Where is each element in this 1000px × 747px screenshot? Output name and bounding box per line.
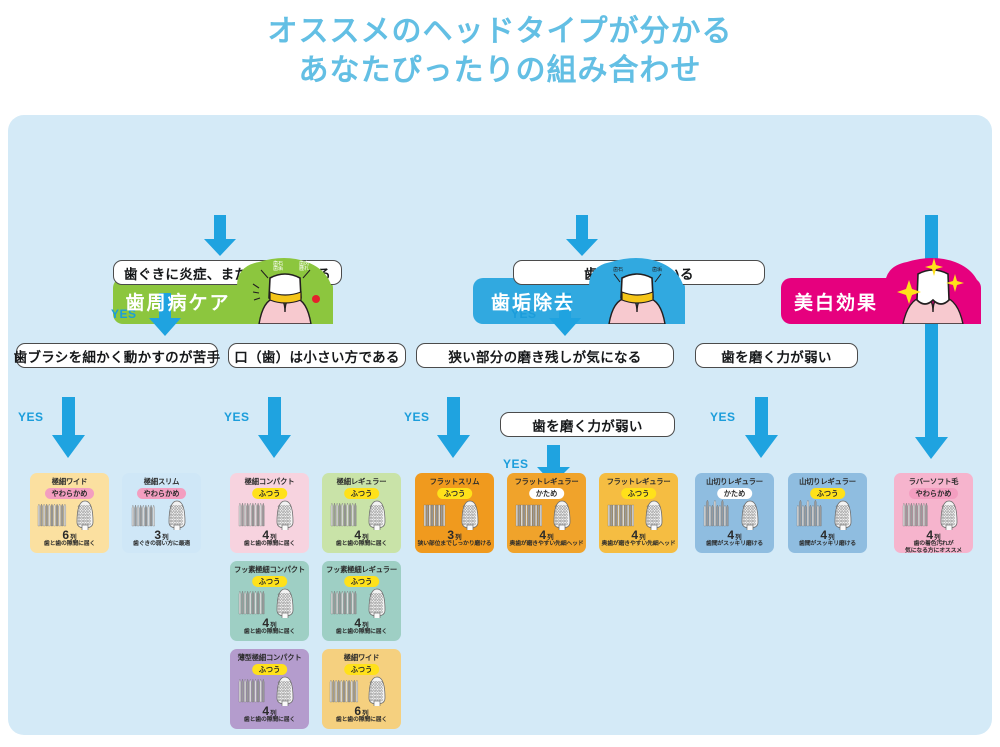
- product-firmness-badge: かため: [529, 488, 565, 499]
- product-card[interactable]: フラットレギュラーふつう 4列奥歯が磨きやすい先細ヘッド: [599, 473, 678, 553]
- product-firmness-badge: かため: [717, 488, 753, 499]
- category-badge-perio[interactable]: 歯周病ケア 歯石歯垢 歯肉腫れ: [113, 278, 333, 324]
- arrow-plaque-badge-to-q1: [565, 215, 599, 257]
- product-row-unit: 列: [455, 534, 462, 541]
- product-name: ラバーソフト毛: [894, 477, 973, 486]
- product-card[interactable]: フッ素極細コンパクトふつう 4列歯と歯の隙間に届く: [230, 561, 309, 641]
- product-description: 歯と歯の隙間に届く: [231, 629, 308, 636]
- product-row-unit: 列: [70, 534, 77, 541]
- category-badge-plaque[interactable]: 歯垢除去 歯石歯垢: [473, 278, 685, 324]
- toothbrush-head-icon: [421, 500, 488, 530]
- arrow-perio-2a-to-cards: [50, 397, 86, 459]
- product-description: 歯の着色汚れが 気になる方にオススメ: [895, 541, 972, 553]
- product-card[interactable]: 極細スリムやわらかめ 3列歯ぐきの弱い方に最適: [122, 473, 201, 553]
- product-card[interactable]: 極細コンパクトふつう 4列歯と歯の隙間に届く: [230, 473, 309, 553]
- product-row-number: 4: [539, 528, 546, 542]
- svg-text:歯垢: 歯垢: [652, 266, 662, 273]
- product-row-unit: 列: [362, 710, 369, 717]
- product-card[interactable]: ラバーソフト毛やわらかめ 4列歯の着色汚れが 気になる方にオススメ: [894, 473, 973, 553]
- product-row-unit: 列: [639, 534, 646, 541]
- category-label-whitening: 美白効果: [781, 278, 891, 324]
- svg-text:歯垢: 歯垢: [273, 265, 283, 272]
- product-card[interactable]: 極細ワイドふつう 6列歯と歯の隙間に届く: [322, 649, 401, 729]
- category-label-perio: 歯周病ケア: [113, 278, 243, 324]
- product-row-unit: 列: [735, 534, 742, 541]
- product-description: 歯と歯の隙間に届く: [323, 629, 400, 636]
- category-label-plaque: 歯垢除去: [473, 278, 593, 324]
- product-description: 歯と歯の隙間に届く: [31, 541, 108, 548]
- product-description: 歯間がスッキリ磨ける: [696, 541, 773, 548]
- product-firmness-badge: ふつう: [344, 488, 380, 499]
- product-row-number: 6: [354, 704, 361, 718]
- product-name: 極細コンパクト: [230, 477, 309, 486]
- toothbrush-head-icon: [605, 500, 672, 530]
- product-row-number: 3: [447, 528, 454, 542]
- product-firmness-badge: やわらかめ: [137, 488, 187, 499]
- question-box-plaque-3[interactable]: 歯を磨く力が弱い: [500, 412, 675, 437]
- question-box-plaque-2b[interactable]: 歯を磨く力が弱い: [695, 343, 858, 368]
- product-row-unit: 列: [828, 534, 835, 541]
- product-description: 奥歯が磨きやすい先細ヘッド: [600, 541, 677, 548]
- page-title: オススメのヘッドタイプが分かる あなたぴったりの組み合わせ: [0, 12, 1000, 90]
- product-description: 歯間がスッキリ磨ける: [789, 541, 866, 548]
- plaque-tooth-icon: 歯石歯垢: [589, 252, 685, 324]
- svg-text:腫れ: 腫れ: [299, 265, 309, 272]
- yes-label-perio-2b: YES: [224, 410, 250, 424]
- yes-label-plaque-3: YES: [503, 457, 529, 471]
- product-firmness-badge: ふつう: [344, 576, 380, 587]
- product-row-number: 3: [154, 528, 161, 542]
- gum-inflammation-tooth-icon: 歯石歯垢 歯肉腫れ: [237, 252, 333, 324]
- product-description: 歯ぐきの弱い方に最適: [123, 541, 200, 548]
- product-card[interactable]: 山切りレギュラーふつう 4列歯間がスッキリ磨ける: [788, 473, 867, 553]
- product-firmness-badge: ふつう: [252, 664, 288, 675]
- product-name: 山切りレギュラー: [695, 477, 774, 486]
- toothbrush-head-icon: [236, 676, 303, 706]
- product-name: フラットレギュラー: [507, 477, 586, 486]
- product-row-unit: 列: [270, 534, 277, 541]
- toothbrush-head-icon: [36, 500, 103, 530]
- product-row-unit: 列: [362, 534, 369, 541]
- product-row-unit: 列: [362, 622, 369, 629]
- toothbrush-head-icon: [513, 500, 580, 530]
- product-row-number: 4: [926, 528, 933, 542]
- question-box-plaque-2a[interactable]: 狭い部分の磨き残しが気になる: [416, 343, 674, 368]
- arrow-plaque-2a-to-cards: [435, 397, 471, 459]
- toothbrush-head-icon: [328, 588, 395, 618]
- product-firmness-badge: ふつう: [252, 576, 288, 587]
- product-firmness-badge: ふつう: [344, 664, 380, 675]
- product-card[interactable]: フラットレギュラーかため 4列奥歯が磨きやすい先細ヘッド: [507, 473, 586, 553]
- product-row-number: 4: [262, 616, 269, 630]
- arrow-plaque-2b-to-cards: [743, 397, 779, 459]
- arrow-perio-2b-to-cards: [256, 397, 292, 459]
- page-title-line1: オススメのヘッドタイプが分かる: [0, 12, 1000, 51]
- product-card[interactable]: フッ素極細レギュラーふつう 4列歯と歯の隙間に届く: [322, 561, 401, 641]
- product-name: フッ素極細レギュラー: [322, 565, 401, 574]
- product-firmness-badge: やわらかめ: [909, 488, 959, 499]
- flowchart-panel: 歯周病ケア 歯石歯垢 歯肉腫れ 歯垢除去: [8, 115, 992, 735]
- product-row-number: 4: [262, 704, 269, 718]
- product-description: 歯と歯の隙間に届く: [231, 717, 308, 724]
- product-card[interactable]: 極細ワイドやわらかめ 6列歯と歯の隙間に届く: [30, 473, 109, 553]
- product-name: 極細レギュラー: [322, 477, 401, 486]
- category-badge-whitening[interactable]: 美白効果: [781, 278, 981, 324]
- toothbrush-head-icon: [701, 500, 768, 530]
- svg-text:歯石: 歯石: [613, 266, 623, 273]
- product-row-unit: 列: [270, 622, 277, 629]
- product-firmness-badge: ふつう: [621, 488, 657, 499]
- yes-label-plaque-2b: YES: [710, 410, 736, 424]
- sparkle-tooth-icon: [885, 252, 981, 324]
- toothbrush-head-icon: [328, 500, 395, 530]
- product-row-unit: 列: [934, 534, 941, 541]
- product-description: 狭い部位までしっかり磨ける: [416, 541, 493, 548]
- product-row-number: 4: [354, 528, 361, 542]
- product-name: 山切りレギュラー: [788, 477, 867, 486]
- yes-label-plaque-2a: YES: [404, 410, 430, 424]
- product-row-number: 6: [62, 528, 69, 542]
- product-row-unit: 列: [162, 534, 169, 541]
- product-row-number: 4: [262, 528, 269, 542]
- product-name: 極細ワイド: [322, 653, 401, 662]
- product-card[interactable]: 山切りレギュラーかため 4列歯間がスッキリ磨ける: [695, 473, 774, 553]
- arrow-perio-badge-to-q1: [203, 215, 237, 257]
- product-firmness-badge: ふつう: [252, 488, 288, 499]
- toothbrush-head-icon: [236, 588, 303, 618]
- product-name: 極細スリム: [122, 477, 201, 486]
- product-row-number: 4: [631, 528, 638, 542]
- product-firmness-badge: やわらかめ: [45, 488, 95, 499]
- product-card[interactable]: 極細レギュラーふつう 4列歯と歯の隙間に届く: [322, 473, 401, 553]
- product-name: 極細ワイド: [30, 477, 109, 486]
- product-name: フッ素極細コンパクト: [230, 565, 309, 574]
- product-row-number: 4: [820, 528, 827, 542]
- product-description: 奥歯が磨きやすい先細ヘッド: [508, 541, 585, 548]
- product-firmness-badge: ふつう: [810, 488, 846, 499]
- product-firmness-badge: ふつう: [437, 488, 473, 499]
- yes-label-perio-2a: YES: [18, 410, 44, 424]
- product-card[interactable]: フラットスリムふつう 3列狭い部位までしっかり磨ける: [415, 473, 494, 553]
- page-title-line2: あなたぴったりの組み合わせ: [0, 51, 1000, 90]
- product-row-unit: 列: [547, 534, 554, 541]
- product-description: 歯と歯の隙間に届く: [323, 541, 400, 548]
- toothbrush-head-icon: [794, 500, 861, 530]
- product-row-unit: 列: [270, 710, 277, 717]
- question-box-perio-2a[interactable]: 歯ブラシを細かく動かすのが苦手: [16, 343, 218, 368]
- toothbrush-head-icon: [328, 676, 395, 706]
- product-name: フラットレギュラー: [599, 477, 678, 486]
- product-row-number: 4: [727, 528, 734, 542]
- product-description: 歯と歯の隙間に届く: [231, 541, 308, 548]
- toothbrush-head-icon: [236, 500, 303, 530]
- product-row-number: 4: [354, 616, 361, 630]
- toothbrush-head-icon: [900, 500, 967, 530]
- product-card[interactable]: 薄型極細コンパクトふつう 4列歯と歯の隙間に届く: [230, 649, 309, 729]
- product-name: フラットスリム: [415, 477, 494, 486]
- question-box-perio-2b[interactable]: 口（歯）は小さい方である: [228, 343, 406, 368]
- product-name: 薄型極細コンパクト: [230, 653, 309, 662]
- product-description: 歯と歯の隙間に届く: [323, 717, 400, 724]
- toothbrush-head-icon: [128, 500, 195, 530]
